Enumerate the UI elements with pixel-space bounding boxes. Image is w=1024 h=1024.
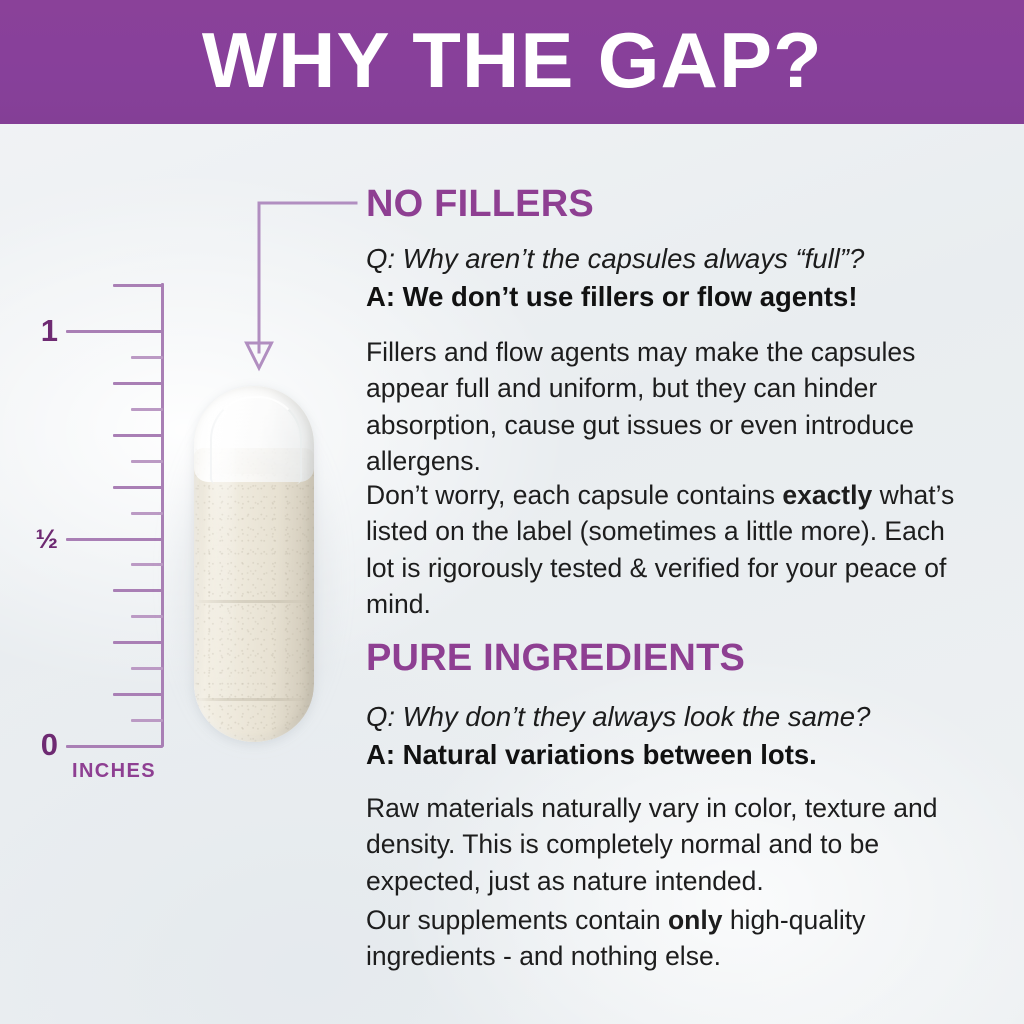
- ruler-label-one: 1: [8, 315, 58, 346]
- ruler-tick-minor: [131, 615, 163, 618]
- ruler-tick-labeled: [66, 538, 163, 541]
- ruler-tick-minor: [131, 667, 163, 670]
- ruler-tick-major: [113, 641, 163, 644]
- ruler-tick-labeled: [66, 745, 163, 748]
- capsule-photo: [190, 386, 318, 756]
- ruler-tick-minor: [131, 356, 163, 359]
- paragraph-fillers-explanation: Fillers and flow agents may make the cap…: [366, 334, 966, 479]
- ruler-tick-major: [113, 284, 163, 287]
- ruler-label-half: ½: [8, 526, 58, 553]
- ruler-tick-major: [113, 486, 163, 489]
- ruler-tick-major: [113, 693, 163, 696]
- answer-no-fillers: A: We don’t use fillers or flow agents!: [366, 280, 857, 314]
- product-visual-column: 1 ½ 0 INCHES: [0, 124, 360, 1024]
- ruler-tick-major: [113, 382, 163, 385]
- ruler-tick-minor: [131, 460, 163, 463]
- ruler-tick-major: [113, 589, 163, 592]
- ruler-tick-labeled: [66, 330, 163, 333]
- section-heading-pure-ingredients: PURE INGREDIENTS: [366, 638, 745, 678]
- capsule-body: [194, 386, 314, 742]
- ruler-tick-minor: [131, 719, 163, 722]
- header-banner: WHY THE GAP?: [0, 0, 1024, 124]
- emphasis-text: exactly: [782, 480, 872, 510]
- ruler-tick-major: [113, 434, 163, 437]
- paragraph-only-high-quality: Our supplements contain only high-qualit…: [366, 902, 966, 975]
- ruler-unit-label: INCHES: [72, 760, 156, 783]
- body-text: Our supplements contain: [366, 905, 668, 935]
- infographic-canvas: WHY THE GAP? 1 ½ 0 INCHES: [0, 0, 1024, 1024]
- body-text: Fillers and flow agents may make the cap…: [366, 337, 915, 476]
- section-heading-no-fillers: NO FILLERS: [366, 184, 594, 224]
- paragraph-exact-contents: Don’t worry, each capsule contains exact…: [366, 477, 966, 622]
- ruler-tick-minor: [131, 408, 163, 411]
- answer-pure-ingredients: A: Natural variations between lots.: [366, 738, 817, 772]
- ruler-tick-minor: [131, 563, 163, 566]
- body-text: Don’t worry, each capsule contains: [366, 480, 782, 510]
- ruler-tick-minor: [131, 512, 163, 515]
- paragraph-raw-materials: Raw materials naturally vary in color, t…: [366, 790, 966, 899]
- capsule-specular-highlight: [212, 400, 234, 712]
- question-pure-ingredients: Q: Why don’t they always look the same?: [366, 700, 870, 734]
- page-title: WHY THE GAP?: [202, 21, 823, 99]
- body-text: Raw materials naturally vary in color, t…: [366, 793, 937, 896]
- emphasis-text: only: [668, 905, 722, 935]
- ruler-label-zero: 0: [8, 729, 58, 760]
- question-no-fillers: Q: Why aren’t the capsules always “full”…: [366, 242, 864, 276]
- gap-pointer-arrow: [246, 192, 366, 382]
